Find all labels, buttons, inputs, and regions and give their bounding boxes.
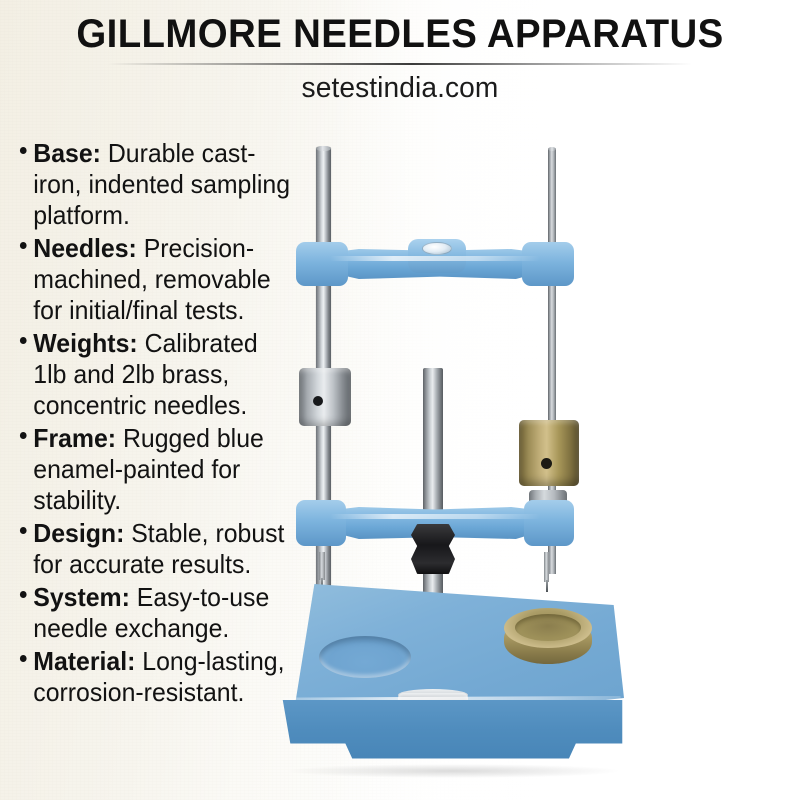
bullet-icon <box>20 242 27 249</box>
final-needle-tip <box>546 580 548 592</box>
list-item: Base: Durable cast-iron, indented sampli… <box>18 138 293 231</box>
list-item: Material: Long-lasting, corrosion-resist… <box>18 646 293 708</box>
list-item: Needles: Precision-machined, removable f… <box>18 233 293 326</box>
upper-crossarm-left-boss <box>296 242 348 286</box>
list-item: Frame: Rugged blue enamel-painted for st… <box>18 423 293 516</box>
initial-needle <box>319 552 325 580</box>
feature-label: System: <box>33 582 130 612</box>
bullet-icon <box>20 432 27 439</box>
final-needle <box>544 552 549 582</box>
lower-crossarm-right-boss <box>524 500 574 546</box>
bullet-icon <box>20 337 27 344</box>
vertical-rod-right-cap <box>548 147 556 151</box>
list-item: System: Easy-to-use needle exchange. <box>18 582 293 644</box>
bullet-icon <box>20 527 27 534</box>
bullet-icon <box>20 591 27 598</box>
clamp-knob <box>411 524 455 574</box>
bullet-icon <box>20 655 27 662</box>
feature-label: Design: <box>33 518 124 548</box>
page-title: GILLMORE NEEDLES APPARATUS <box>16 12 784 57</box>
upper-crossarm-hub-hole <box>422 242 452 255</box>
base-plate-front <box>280 700 624 768</box>
brass-weight <box>519 420 579 486</box>
upper-crossarm-highlight <box>330 256 540 261</box>
upper-crossarm <box>296 236 574 294</box>
lower-crossarm-highlight <box>330 514 540 519</box>
bullet-icon <box>20 147 27 154</box>
title-divider <box>108 63 692 65</box>
feature-label: Frame: <box>33 423 116 453</box>
steel-weight <box>299 368 351 426</box>
lower-crossarm-left-boss <box>296 500 346 546</box>
brass-mould <box>504 608 592 670</box>
product-photo <box>272 128 632 778</box>
steel-weight-setscrew-hole <box>313 396 323 406</box>
base-shadow <box>288 764 618 778</box>
list-item: Design: Stable, robust for accurate resu… <box>18 518 293 580</box>
poster-root: GILLMORE NEEDLES APPARATUS setestindia.c… <box>0 0 800 800</box>
feature-label: Weights: <box>33 328 137 358</box>
vertical-rod-left-cap <box>316 146 331 151</box>
brass-mould-cavity <box>515 614 581 641</box>
upper-crossarm-right-boss <box>522 242 574 286</box>
website-subtitle: setestindia.com <box>12 72 788 105</box>
base-dish <box>319 636 411 678</box>
feature-label: Needles: <box>33 233 137 263</box>
feature-label: Base: <box>33 138 101 168</box>
list-item: Weights: Calibrated 1lb and 2lb brass, c… <box>18 328 293 421</box>
feature-list: Base: Durable cast-iron, indented sampli… <box>18 138 306 710</box>
feature-label: Material: <box>33 646 135 676</box>
brass-weight-setscrew-hole <box>541 458 552 469</box>
